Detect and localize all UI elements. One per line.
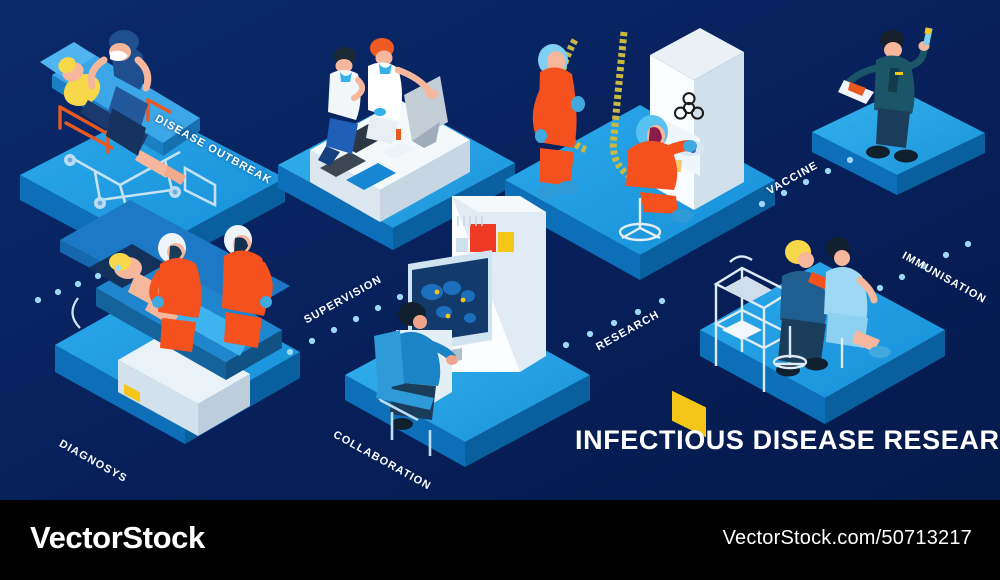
vectorstock-logo: VectorStock — [30, 520, 205, 556]
page-title: INFECTIOUS DISEASE RESEARCH — [575, 425, 1000, 456]
vectorstock-url: VectorStock.com/50713217 — [723, 527, 972, 550]
illustration-canvas: DISEASE OUTBREAK DIAGNOSYS SUPERVISION C… — [0, 0, 1000, 500]
watermark-bar: VectorStock VectorStock.com/50713217 — [0, 500, 1000, 580]
infographic-poster: DISEASE OUTBREAK DIAGNOSYS SUPERVISION C… — [0, 0, 1000, 580]
